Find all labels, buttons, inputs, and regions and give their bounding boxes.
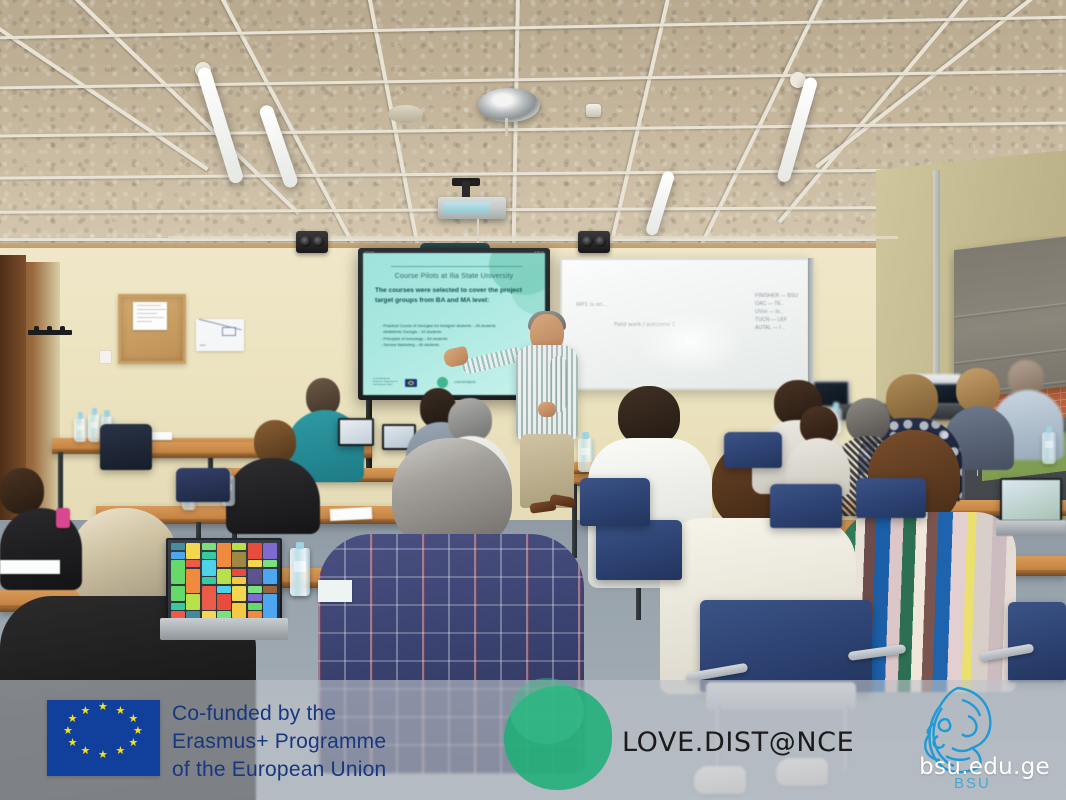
timetable-block xyxy=(248,560,262,567)
laptop-keyboard[interactable] xyxy=(996,520,1066,536)
timetable-block xyxy=(248,603,262,610)
speaker-stem xyxy=(505,118,508,136)
ceiling-speaker-dome xyxy=(478,88,540,122)
timetable-block xyxy=(232,603,246,619)
phone-device[interactable] xyxy=(56,508,70,528)
project-name-wordmark: LOVE.DIST@NCE xyxy=(622,727,854,758)
timetable-block xyxy=(248,594,262,601)
classroom-photo: plan Course Pilots at Ilia State Univers… xyxy=(0,0,1066,800)
chair[interactable] xyxy=(770,484,842,528)
laptop[interactable] xyxy=(166,538,282,620)
timetable-block xyxy=(171,560,185,584)
timetable-block xyxy=(248,586,262,593)
chair[interactable] xyxy=(724,432,782,468)
timetable-block xyxy=(232,577,246,584)
timetable-block xyxy=(263,560,277,567)
chair[interactable] xyxy=(596,520,682,580)
whiteboard-list-item: UVxx — Ix.. xyxy=(755,308,798,316)
presenter-shirt xyxy=(516,345,578,440)
tissue-box xyxy=(318,580,352,602)
board-brand-right: HITACHI xyxy=(534,251,544,254)
slide-footer-eu-text: Co-funded by the Erasmus+ Programme of t… xyxy=(373,378,399,387)
project-logo xyxy=(504,686,622,798)
attendee-green-top xyxy=(786,406,852,492)
attendee-head xyxy=(618,386,680,446)
board-brand-left: HITACHI xyxy=(364,251,374,254)
eu-funding-line-2: Erasmus+ Programme xyxy=(172,728,502,756)
chair[interactable] xyxy=(100,424,152,470)
notice-diagram-box xyxy=(222,327,236,336)
timetable-block xyxy=(248,611,262,618)
timetable-block xyxy=(202,560,216,576)
timetable-block xyxy=(202,577,216,584)
timetable-block xyxy=(186,569,200,593)
wall-speaker-right-icon xyxy=(578,231,610,253)
timetable-block xyxy=(248,569,262,585)
slide-body-text: The courses were selected to cover the p… xyxy=(375,286,535,305)
eu-funding-text: Co-funded by the Erasmus+ Programme of t… xyxy=(172,700,502,784)
timetable-block xyxy=(263,543,277,559)
project-circle-icon xyxy=(437,377,448,388)
paper-sheet xyxy=(0,560,60,574)
laptop-screen xyxy=(168,540,280,618)
timetable-block xyxy=(217,543,231,567)
whiteboard-list-item: TUCN — LEF xyxy=(755,316,798,324)
whiteboard-edge xyxy=(808,258,814,390)
light-switch[interactable] xyxy=(99,350,112,364)
cork-bulletin-board xyxy=(118,294,186,364)
smoke-detector-icon xyxy=(586,104,601,117)
chair[interactable] xyxy=(700,600,872,692)
pinned-notice xyxy=(133,302,167,330)
water-bottle xyxy=(1042,432,1056,464)
laptop[interactable] xyxy=(1000,478,1062,522)
ceiling-vent xyxy=(388,105,423,123)
bsu-logo: BSU bsu.edu.ge xyxy=(900,684,1058,798)
timetable-block xyxy=(186,543,200,559)
whiteboard-glare xyxy=(636,309,744,376)
timetable-block xyxy=(217,569,231,585)
timetable-block xyxy=(217,586,231,593)
timetable-block xyxy=(171,603,185,610)
eu-flag-icon: ★★★★★★★★★★★★ xyxy=(47,700,160,776)
timetable-block xyxy=(171,611,185,618)
laptop-screen xyxy=(1002,480,1060,520)
projector-lens-icon xyxy=(444,202,490,214)
whiteboard-list-item: FINISHER — BSU xyxy=(755,292,798,300)
whiteboard-list-item: AUTAL — I .. xyxy=(755,324,798,332)
slide-title: Course Pilots at Ilia State University xyxy=(363,271,545,280)
timetable-grid xyxy=(171,543,277,615)
timetable-block xyxy=(202,611,216,618)
chair[interactable] xyxy=(856,478,926,518)
wall-plan-notice: plan xyxy=(196,319,244,351)
water-bottle xyxy=(290,548,310,596)
eu-flag-logo: ★★★★★★★★★★★★ xyxy=(47,700,160,776)
timetable-block xyxy=(186,594,200,610)
chair[interactable] xyxy=(580,478,650,526)
eu-funding-line-3: of the European Union xyxy=(172,756,502,784)
slide-divider xyxy=(391,266,523,267)
project-green-circle-highlight-icon xyxy=(510,678,584,744)
whiteboard-list-item: OAC — TE.. xyxy=(755,300,798,308)
chair[interactable] xyxy=(176,468,230,502)
whiteboard-note-left: WP1 is on... xyxy=(576,302,608,308)
timetable-block xyxy=(217,594,231,610)
timetable-block xyxy=(248,543,262,559)
water-bottle xyxy=(74,418,87,442)
blind-fold xyxy=(954,302,1066,319)
coat-hook-rail[interactable] xyxy=(28,330,72,335)
laptop-keyboard[interactable] xyxy=(160,618,288,640)
timetable-block xyxy=(202,543,216,550)
timetable-block xyxy=(186,560,200,567)
timetable-block xyxy=(232,586,246,602)
wall-cable-run xyxy=(168,236,898,239)
timetable-block xyxy=(232,569,246,576)
timetable-block xyxy=(263,569,277,585)
timetable-block xyxy=(171,586,185,602)
timetable-block xyxy=(171,552,185,559)
wall-speaker-left-icon xyxy=(296,231,328,253)
eu-funding-line-1: Co-funded by the xyxy=(172,700,502,728)
timetable-block xyxy=(232,552,246,568)
timetable-block xyxy=(217,611,231,618)
timetable-block xyxy=(202,586,216,610)
presenter-hand xyxy=(538,402,556,417)
slide-footer-project: LOVE.DIST@NCE xyxy=(454,381,476,384)
timetable-block xyxy=(202,552,216,559)
whiteboard-partner-list: FINISHER — BSU OAC — TE.. UVxx — Ix.. TU… xyxy=(755,292,798,332)
timetable-block xyxy=(263,594,277,618)
footer-overlay-band: ★★★★★★★★★★★★ Co-funded by the Erasmus+ P… xyxy=(0,680,1066,800)
timetable-block xyxy=(171,543,185,550)
timetable-block xyxy=(263,586,277,593)
timetable-block xyxy=(186,611,200,618)
eu-flag-icon xyxy=(405,379,417,387)
notice-label: plan xyxy=(200,343,206,347)
timetable-block xyxy=(232,543,246,550)
bsu-website-url: bsu.edu.ge xyxy=(919,754,1050,780)
chair[interactable] xyxy=(1008,602,1066,682)
